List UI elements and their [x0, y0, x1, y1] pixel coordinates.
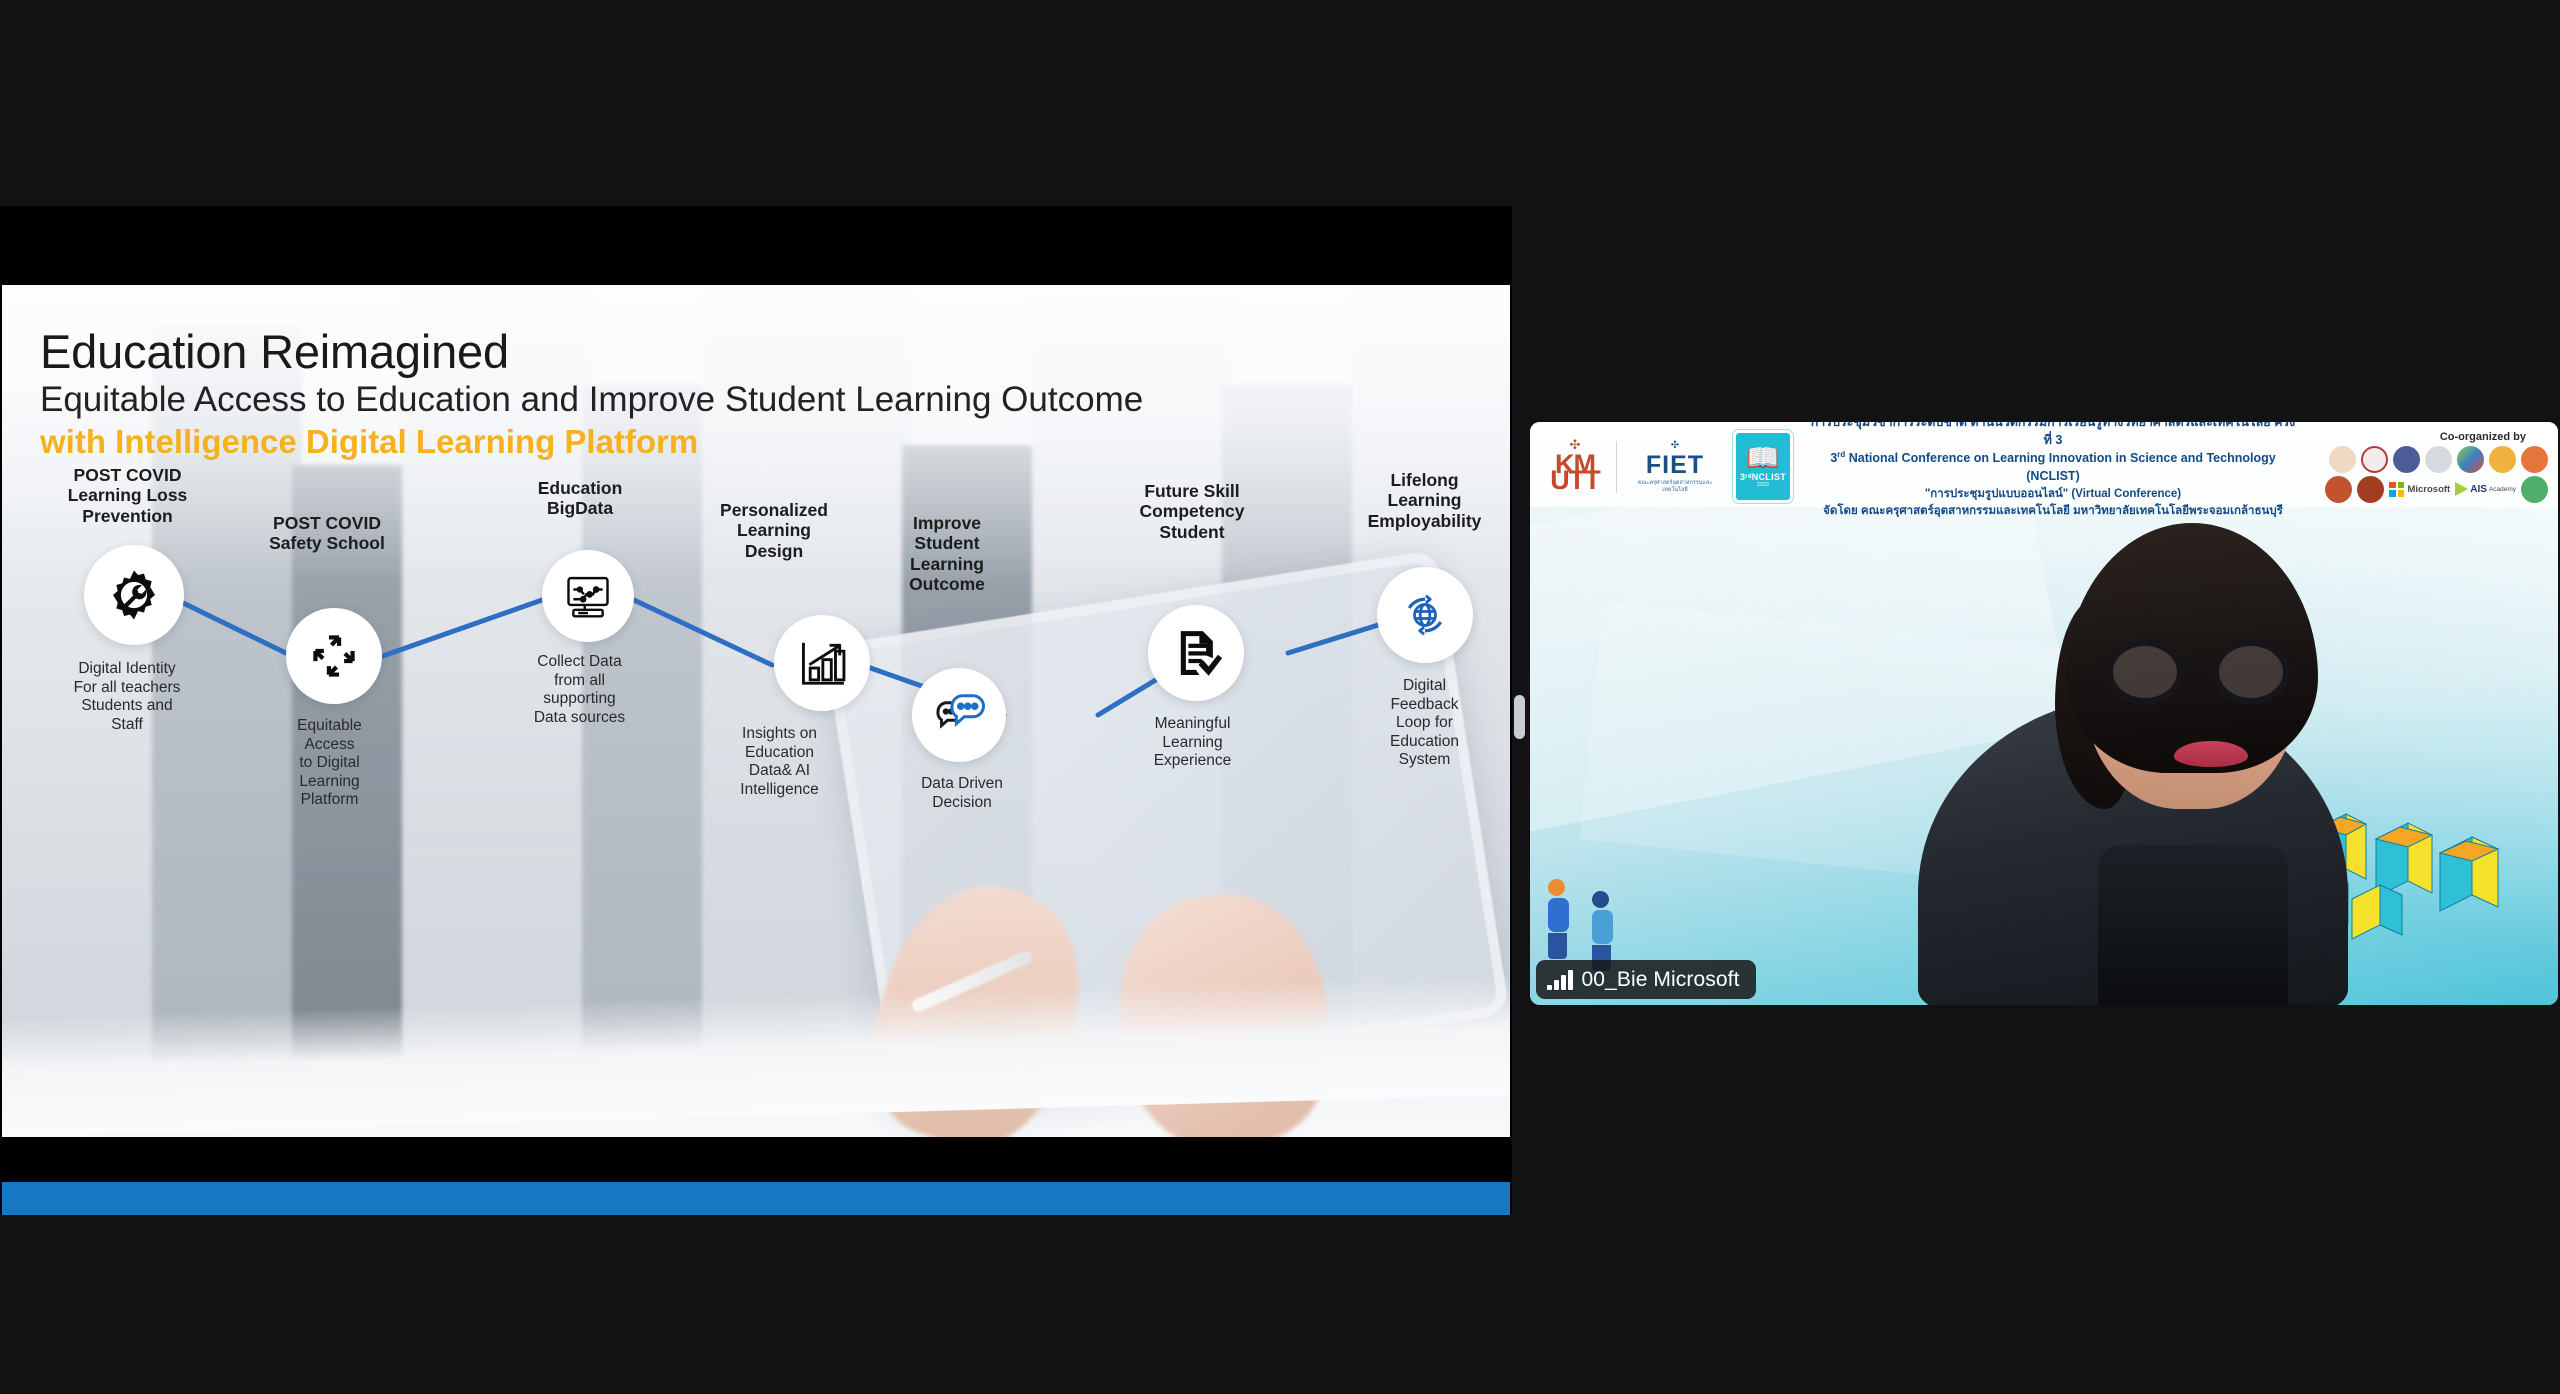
nclist-logo: 📖 3ʳᵈNCLIST 2022: [1733, 430, 1793, 503]
nclist-logo-year: 2022: [1757, 482, 1769, 488]
node-heading-digital-identity: POST COVID Learning Loss Prevention: [20, 465, 235, 526]
pane-resize-handle[interactable]: [1512, 694, 1527, 740]
illustration-head-2: [1592, 891, 1609, 908]
microsoft-squares-icon: [2389, 482, 2404, 497]
monitor-circuit-icon: [562, 570, 614, 622]
illustration-person-1: [1548, 879, 1569, 959]
co-organizer-row-2: Microsoft AIS Academy: [2313, 476, 2548, 503]
illustration-body-1: [1548, 898, 1569, 932]
illustration-body-2: [1592, 910, 1613, 944]
glasses-bridge: [2180, 661, 2218, 668]
glasses-lens-left: [2106, 639, 2184, 705]
illustration-head-1: [1548, 879, 1565, 896]
nclist-logo-label: 3ʳᵈNCLIST: [1740, 472, 1786, 482]
partner-seal-10: [2521, 476, 2548, 503]
node-icon-circle-data-driven-decision[interactable]: [912, 668, 1006, 762]
ais-label: AIS: [2470, 484, 2487, 495]
fiet-logo-text: FIET: [1627, 451, 1723, 480]
kmutt-logo: ✣ KM UTT: [1544, 439, 1606, 494]
participant-shirt: [2098, 845, 2288, 1005]
participant-lips: [2174, 741, 2248, 767]
banner-virtual-line: "การประชุมรูปแบบออนไลน์" (Virtual Confer…: [1809, 486, 2297, 503]
participant-name-badge: 00_Bie Microsoft: [1536, 960, 1756, 999]
node-heading-data-driven-decision: Improve Student Learning Outcome: [857, 513, 1037, 594]
partner-seal-9: [2357, 476, 2384, 503]
node-icon-circle-digital-identity[interactable]: [84, 545, 184, 645]
globe-refresh-icon: [1397, 587, 1453, 643]
participant-name: 00_Bie Microsoft: [1582, 968, 1740, 992]
shared-content-pane[interactable]: Education Reimagined Equitable Access to…: [0, 206, 1512, 1215]
ais-academy-logo: AIS Academy: [2455, 482, 2516, 496]
presentation-slide[interactable]: Education Reimagined Equitable Access to…: [2, 285, 1510, 1137]
banner-english-title: 3rd National Conference on Learning Inno…: [1809, 449, 2297, 485]
node-heading-meaningful-learning-experience: Future Skill Competency Student: [1102, 481, 1282, 542]
four-arrows-cycle-icon: [307, 629, 361, 683]
bar-chart-arrow-icon: [795, 636, 849, 690]
signal-bars-icon: [1547, 970, 1573, 990]
partner-seal-6: [2489, 446, 2516, 473]
node-icon-circle-meaningful-learning-experience[interactable]: [1148, 605, 1244, 701]
conference-banner: ✣ KM UTT ✣ FIET คณะครุศาสตร์อุตสาหกรรมแล…: [1530, 422, 2558, 507]
ais-sub-label: Academy: [2489, 486, 2516, 493]
node-icon-circle-personalized-learning-design[interactable]: [774, 615, 870, 711]
banner-divider: [1616, 441, 1617, 493]
journey-diagram: POST COVID Learning Loss Prevention Digi…: [2, 285, 1510, 1137]
banner-ordinal-suffix: rd: [1837, 450, 1845, 459]
partner-seal-4: [2425, 446, 2452, 473]
app-window: Education Reimagined Equitable Access to…: [0, 0, 2560, 1394]
banner-thai-title: การประชุมวิชาการระดับชาติ ด้านนวัตกรรมกา…: [1809, 422, 2297, 449]
node-heading-education-bigdata: Education BigData: [480, 478, 680, 519]
microsoft-logo: Microsoft: [2389, 482, 2450, 497]
node-caption-meaningful-learning-experience: Meaningful Learning Experience: [1110, 715, 1275, 771]
fiet-logo: ✣ FIET คณะครุศาสตร์อุตสาหกรรมและเทคโนโลย…: [1627, 440, 1723, 494]
fiet-logo-sub: คณะครุศาสตร์อุตสาหกรรมและเทคโนโลยี: [1627, 480, 1723, 494]
node-icon-circle-education-bigdata[interactable]: [542, 550, 634, 642]
node-caption-personalized-learning-design: Insights on Education Data& AI Intellige…: [687, 725, 872, 799]
partner-seal-8: [2325, 476, 2352, 503]
co-organizers-block: Co-organized by: [2313, 431, 2548, 503]
partner-seal-1: [2329, 446, 2356, 473]
participant-glasses: [2106, 639, 2290, 705]
glasses-lens-right: [2212, 639, 2290, 705]
document-check-icon: [1169, 626, 1223, 680]
node-icon-circle-equitable-access[interactable]: [286, 608, 382, 704]
illustration-legs-1: [1548, 933, 1567, 959]
participant-webcam-image: [1848, 507, 2408, 1005]
gear-wrench-icon: [106, 567, 162, 623]
illustration-person-2: [1592, 891, 1613, 971]
node-icon-circle-digital-feedback-loop[interactable]: [1377, 567, 1473, 663]
node-heading-equitable-access: POST COVID Safety School: [222, 513, 432, 554]
banner-english-text: National Conference on Learning Innovati…: [1849, 451, 2276, 483]
slide-accent-bar: [2, 1182, 1510, 1215]
partner-seal-5: [2457, 446, 2484, 473]
node-caption-equitable-access: Equitable Access to Digital Learning Pla…: [242, 717, 417, 810]
partner-seal-3: [2393, 446, 2420, 473]
microsoft-label: Microsoft: [2407, 484, 2450, 495]
node-caption-data-driven-decision: Data Driven Decision: [882, 775, 1042, 812]
node-heading-digital-feedback-loop: Lifelong Learning Employability: [1332, 470, 1510, 531]
partner-seal-7: [2521, 446, 2548, 473]
node-caption-digital-identity: Digital Identity For all teachers Studen…: [22, 660, 232, 734]
node-caption-digital-feedback-loop: Digital Feedback Loop for Education Syst…: [1342, 677, 1507, 770]
co-organizer-row-1: [2313, 446, 2548, 473]
partner-seal-2: [2361, 446, 2388, 473]
co-organized-label: Co-organized by: [2313, 431, 2548, 443]
chat-bubbles-icon: [931, 687, 987, 743]
ais-chevron-icon: [2455, 482, 2468, 496]
banner-text-block: การประชุมวิชาการระดับชาติ ด้านนวัตกรรมกา…: [1803, 422, 2303, 520]
node-caption-education-bigdata: Collect Data from all supporting Data so…: [487, 653, 672, 727]
node-heading-personalized-learning-design: Personalized Learning Design: [674, 500, 874, 561]
participant-video-tile[interactable]: ✣ KM UTT ✣ FIET คณะครุศาสตร์อุตสาหกรรมแล…: [1530, 422, 2558, 1005]
